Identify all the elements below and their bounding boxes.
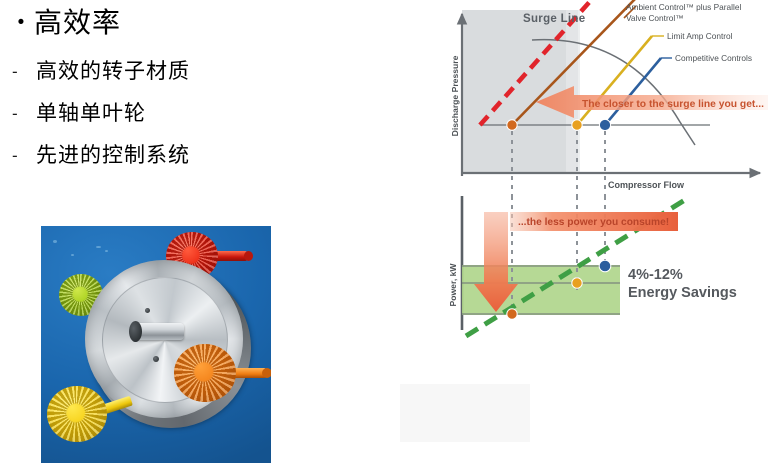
legend-label-limit-amp: Limit Amp Control — [667, 31, 733, 41]
bullet-text-level2: 高效的转子材质 — [36, 56, 190, 88]
impeller-blades — [174, 344, 236, 402]
photo-speck — [53, 240, 57, 243]
compressor-control-diagram: Surge Line The closer to the surge line … — [448, 0, 779, 340]
disc-bolt-hole — [145, 308, 150, 313]
list-item: - 先进的控制系统 — [8, 140, 428, 172]
list-item: - 单轴单叶轮 — [8, 98, 428, 130]
bullet-text-level2: 单轴单叶轮 — [36, 98, 146, 130]
legend-label-ambient-control-line1: Ambient Control™ plus Parallel — [626, 2, 741, 12]
legend-label-competitive: Competitive Controls — [675, 53, 752, 63]
savings-value: 4%-12% — [628, 267, 683, 283]
bullet-dot-icon: • — [8, 4, 34, 42]
y-axis-label: Discharge Pressure — [450, 55, 460, 136]
chart-surge-map: Surge Line The closer to the surge line … — [450, 0, 768, 200]
impeller-blades — [47, 386, 107, 442]
impeller-yellow — [47, 386, 107, 442]
x-axis-label: Compressor Flow — [608, 180, 685, 190]
callout-arrow-text: The closer to the surge line you get... — [582, 99, 764, 110]
operating-point-3 — [599, 119, 610, 130]
power-point-3 — [599, 260, 611, 272]
legend-label-ambient-control-line2: Valve Control™ — [626, 13, 684, 23]
bullet-text-level2: 先进的控制系统 — [36, 140, 190, 172]
list-item: • 高效率 — [8, 4, 428, 42]
impeller-orange — [174, 344, 236, 402]
list-item: - 高效的转子材质 — [8, 56, 428, 88]
bullet-dash-icon: - — [12, 140, 36, 172]
bullet-text-level1: 高效率 — [34, 4, 121, 42]
bullet-list: • 高效率 - 高效的转子材质 - 单轴单叶轮 - 先进的控制系统 — [8, 4, 428, 182]
scan-artifact — [400, 384, 530, 442]
operating-point-2 — [572, 120, 582, 130]
hub-shaft — [136, 323, 184, 340]
hub-cap — [129, 321, 142, 342]
callout-banner-text: ...the less power you consume! — [518, 217, 669, 228]
photo-speck — [71, 254, 74, 256]
bullet-dash-icon: - — [12, 98, 36, 130]
impeller-nose — [262, 368, 271, 378]
disc-bolt-hole — [153, 356, 159, 362]
slide-canvas: • 高效率 - 高效的转子材质 - 单轴单叶轮 - 先进的控制系统 — [0, 0, 779, 463]
savings-caption: Energy Savings — [628, 285, 737, 301]
surge-line-label: Surge Line — [523, 13, 585, 25]
photo-speck — [96, 246, 101, 248]
power-point-2 — [572, 278, 582, 288]
photo-speck — [105, 250, 108, 252]
compressor-impeller-photo — [41, 226, 271, 463]
power-point-1 — [507, 309, 517, 319]
y-axis-label: Power, kW — [448, 263, 458, 307]
chart-power-curve: ...the less power you consume! Power, kW… — [448, 196, 737, 336]
operating-point-1 — [507, 120, 517, 130]
bullet-dash-icon: - — [12, 56, 36, 88]
